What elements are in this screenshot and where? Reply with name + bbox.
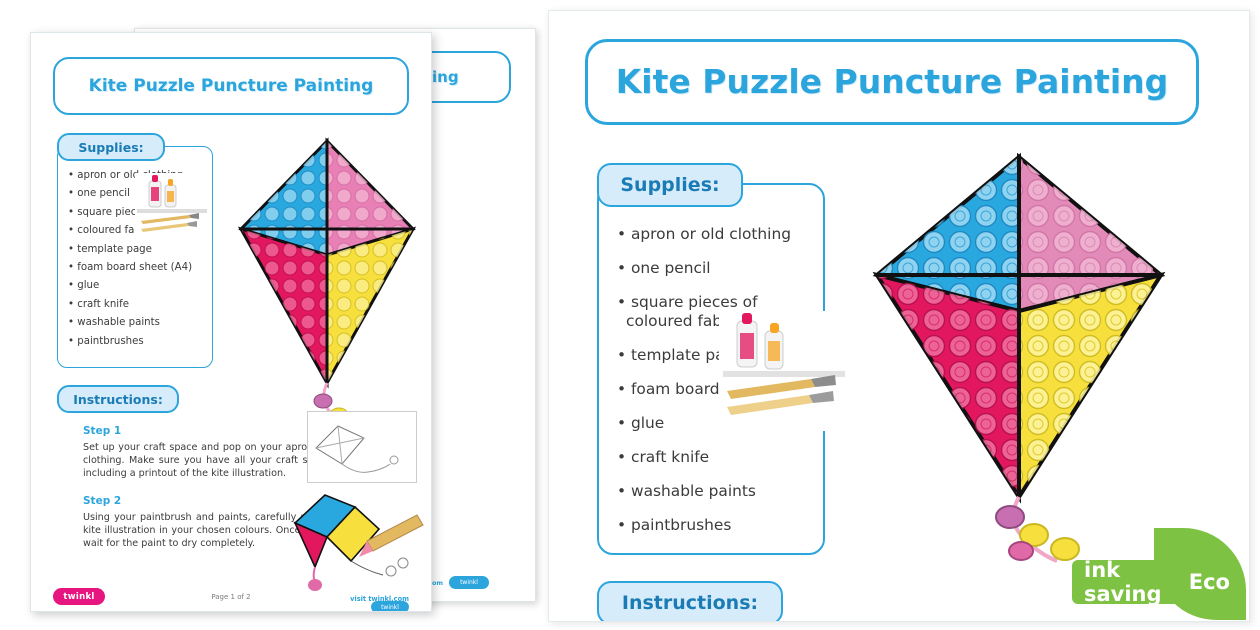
- kite-illustration-front: [227, 133, 427, 443]
- front-instructions-heading: Instructions:: [73, 392, 163, 407]
- front-supplies-heading: Supplies:: [78, 140, 143, 155]
- main-instructions-heading: Instructions:: [622, 592, 758, 614]
- back-twinkl-logo[interactable]: twinkl: [449, 576, 489, 589]
- list-item: paintbrushes: [617, 516, 813, 535]
- list-item: glue: [68, 279, 204, 292]
- footer-twinkl-badge[interactable]: twinkl: [371, 601, 409, 612]
- main-title: Kite Puzzle Puncture Painting: [588, 42, 1196, 122]
- preview-page-front[interactable]: Kite Puzzle Puncture Painting apron or o…: [30, 32, 432, 612]
- step-1-thumbnail: [307, 411, 417, 483]
- eco-label: Eco: [1189, 570, 1230, 594]
- main-craft-supplies-photo: [719, 311, 849, 431]
- list-item: template page: [68, 243, 204, 256]
- step-1-body: Set up your craft space and pop on your …: [83, 441, 345, 481]
- page-number: Page 1 of 2: [211, 593, 250, 601]
- eco-ink-saving-label: ink saving: [1084, 558, 1180, 606]
- step-2-illustration: [281, 489, 431, 599]
- screenshot-canvas: Kite Puzzle Puncture Painting: [0, 0, 1260, 630]
- eco-badge: ink saving Eco: [1072, 526, 1252, 622]
- front-page-title-plaque: Kite Puzzle Puncture Painting: [53, 57, 409, 115]
- front-page-title: Kite Puzzle Puncture Painting: [55, 59, 407, 113]
- list-item: paintbrushes: [68, 335, 204, 348]
- front-instructions-heading-tab: Instructions:: [57, 385, 179, 413]
- kite-illustration-main: [869, 151, 1169, 571]
- list-item: washable paints: [617, 482, 813, 501]
- left-preview-stack: Kite Puzzle Puncture Painting: [16, 14, 536, 618]
- main-supplies-heading-tab: Supplies:: [597, 163, 743, 207]
- eco-badge-bar: ink saving Eco: [1072, 560, 1230, 604]
- list-item: craft knife: [617, 448, 813, 467]
- list-item: craft knife: [68, 298, 204, 311]
- twinkl-logo[interactable]: twinkl: [53, 588, 105, 605]
- list-item: apron or old clothing: [617, 225, 813, 244]
- list-item: washable paints: [68, 316, 204, 329]
- main-supplies-heading: Supplies:: [620, 174, 719, 196]
- list-item: one pencil: [617, 259, 813, 278]
- front-supplies-heading-tab: Supplies:: [57, 133, 165, 161]
- list-item: foam board sheet (A4): [68, 261, 204, 274]
- main-instructions-heading-tab: Instructions:: [597, 581, 783, 622]
- craft-supplies-photo: [135, 173, 209, 243]
- main-title-plaque: Kite Puzzle Puncture Painting: [585, 39, 1199, 125]
